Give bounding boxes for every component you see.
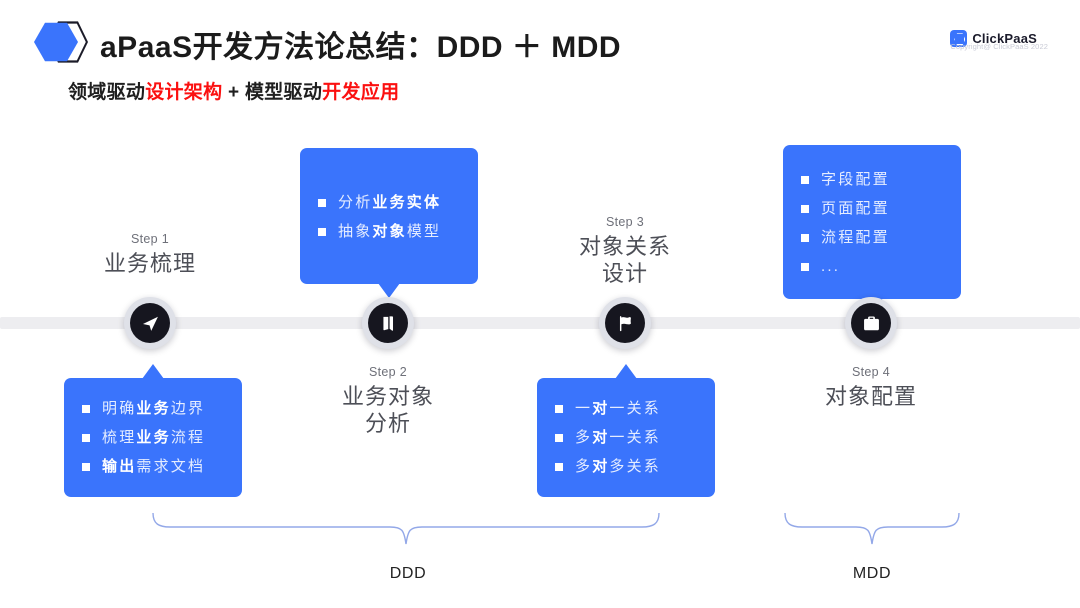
step-name-2: 业务对象 分析 — [288, 384, 488, 438]
step-number-1: Step 1 — [50, 232, 250, 246]
list-item: 多对多关系 — [555, 452, 697, 481]
brace-icon-ddd — [150, 512, 662, 546]
timeline-node-4[interactable] — [845, 297, 897, 349]
subtitle-part-2: + 模型驱动 — [222, 82, 322, 103]
step-card-4-list: 字段配置 页面配置 流程配置 ... — [801, 161, 943, 283]
list-item: 字段配置 — [801, 165, 943, 194]
copyright-text: Copyright@ ClickPaaS 2022 — [950, 42, 1048, 51]
step-card-1-list: 明确业务边界 梳理业务流程 输出需求文档 — [82, 394, 224, 481]
group-label-ddd: DDD — [328, 565, 488, 583]
bullet-square-icon — [318, 199, 326, 207]
step-name-1: 业务梳理 — [50, 251, 250, 278]
page-subtitle: 领域驱动设计架构 + 模型驱动开发应用 — [68, 77, 399, 104]
step-label-4: Step 4 对象配置 — [771, 365, 971, 411]
group-label-mdd: MDD — [792, 565, 952, 583]
step-card-3: 一对一关系 多对一关系 多对多关系 — [537, 378, 715, 497]
subtitle-part-1: 设计架构 — [145, 82, 222, 103]
brace-icon-mdd — [782, 512, 962, 546]
briefcase-icon — [851, 303, 891, 343]
bullet-square-icon — [555, 434, 563, 442]
step-card-2: 分析业务实体 抽象对象模型 — [300, 148, 478, 284]
list-item: 输出需求文档 — [82, 452, 224, 481]
list-item: 多对一关系 — [555, 423, 697, 452]
page-title: aPaaS开发方法论总结：DDD ＋ MDD — [100, 22, 621, 66]
timeline-node-1[interactable] — [124, 297, 176, 349]
step-label-1: Step 1 业务梳理 — [50, 232, 250, 278]
step-name-3: 对象关系 设计 — [525, 234, 725, 288]
bullet-square-icon — [82, 463, 90, 471]
step-card-4: 字段配置 页面配置 流程配置 ... — [783, 145, 961, 299]
bullet-square-icon — [801, 263, 809, 271]
list-item: 流程配置 — [801, 223, 943, 252]
bullet-square-icon — [801, 234, 809, 242]
brand-logo: ClickPaaS Copyright@ ClickPaaS 2022 — [950, 30, 1048, 52]
list-item: 明确业务边界 — [82, 394, 224, 423]
bullet-square-icon — [801, 176, 809, 184]
list-item: 一对一关系 — [555, 394, 697, 423]
subtitle-part-0: 领域驱动 — [68, 82, 145, 103]
paper-plane-icon — [130, 303, 170, 343]
step-card-2-list: 分析业务实体 抽象对象模型 — [318, 164, 460, 268]
timeline-node-3[interactable] — [599, 297, 651, 349]
list-item: 梳理业务流程 — [82, 423, 224, 452]
hexagon-logo-icon — [34, 20, 90, 62]
step-card-1: 明确业务边界 梳理业务流程 输出需求文档 — [64, 378, 242, 497]
list-item: 页面配置 — [801, 194, 943, 223]
bullet-square-icon — [318, 228, 326, 236]
list-item: 分析业务实体 — [318, 188, 460, 217]
timeline-node-2[interactable] — [362, 297, 414, 349]
subtitle-part-3: 开发应用 — [322, 82, 399, 103]
step-label-3: Step 3 对象关系 设计 — [525, 215, 725, 288]
step-card-3-list: 一对一关系 多对一关系 多对多关系 — [555, 394, 697, 481]
step-number-4: Step 4 — [771, 365, 971, 379]
step-number-2: Step 2 — [288, 365, 488, 379]
step-label-2: Step 2 业务对象 分析 — [288, 365, 488, 438]
step-name-4: 对象配置 — [771, 384, 971, 411]
slide-canvas: aPaaS开发方法论总结：DDD ＋ MDD 领域驱动设计架构 + 模型驱动开发… — [0, 0, 1080, 608]
list-item: 抽象对象模型 — [318, 217, 460, 246]
book-icon — [368, 303, 408, 343]
list-item: ... — [801, 252, 943, 281]
bullet-square-icon — [801, 205, 809, 213]
bullet-square-icon — [555, 463, 563, 471]
step-number-3: Step 3 — [525, 215, 725, 229]
flag-icon — [605, 303, 645, 343]
bullet-square-icon — [555, 405, 563, 413]
bullet-square-icon — [82, 434, 90, 442]
bullet-square-icon — [82, 405, 90, 413]
